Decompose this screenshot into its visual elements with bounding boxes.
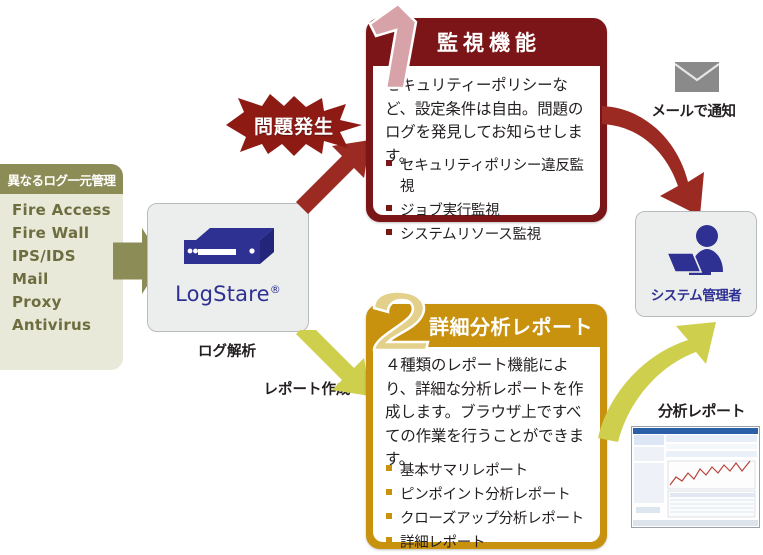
list-item: Antivirus <box>0 313 123 336</box>
system-administrator-label: システム管理者 <box>636 284 756 304</box>
analysis-report-thumbnail <box>631 426 760 528</box>
list-item: 基本サマリレポート <box>385 459 597 480</box>
mail-notification-label: メールで通知 <box>624 100 763 121</box>
problem-occurrence-burst: 問題発生 <box>226 94 362 156</box>
product-name-text: LogStare <box>175 282 270 306</box>
log-sources-panel: 異なるログ一元管理 Fire Access Fire Wall IPS/IDS … <box>0 164 123 370</box>
list-item: システムリソース監視 <box>385 223 597 244</box>
list-item: ジョブ実行監視 <box>385 199 597 220</box>
list-item: ピンポイント分析レポート <box>385 483 597 504</box>
registered-trademark-mark: ® <box>270 283 281 296</box>
list-item: Fire Wall <box>0 221 123 244</box>
log-sources-list: Fire Access Fire Wall IPS/IDS Mail Proxy… <box>0 198 123 336</box>
analysis-report-label: 分析レポート <box>640 400 763 421</box>
list-item: Proxy <box>0 290 123 313</box>
logstare-panel: LogStare® <box>147 203 309 332</box>
list-item: Mail <box>0 267 123 290</box>
log-analysis-caption: ログ解析 <box>147 340 307 361</box>
system-administrator-icon <box>663 223 729 278</box>
step-number-2-badge <box>368 290 434 352</box>
list-item: クローズアップ分析レポート <box>385 507 597 528</box>
log-sources-header: 異なるログ一元管理 <box>0 164 123 194</box>
yellow-diagonal-arrow-icon <box>296 330 376 406</box>
list-item: セキュリティポリシー違反監視 <box>385 154 597 196</box>
list-item: Fire Access <box>0 198 123 221</box>
diagram-canvas: 異なるログ一元管理 Fire Access Fire Wall IPS/IDS … <box>0 0 763 553</box>
monitoring-feature-list: セキュリティポリシー違反監視 ジョブ実行監視 システムリソース監視 <box>385 154 597 247</box>
burst-label: 問題発生 <box>226 94 362 156</box>
report-feature-list: 基本サマリレポート ピンポイント分析レポート クローズアップ分析レポート 詳細レ… <box>385 459 597 555</box>
list-item: IPS/IDS <box>0 244 123 267</box>
report-card-body: ４種類のレポート機能により、詳細な分析レポートを作成します。ブラウザ上ですべての… <box>373 347 600 542</box>
server-appliance-icon <box>182 226 274 268</box>
system-administrator-panel: システム管理者 <box>635 211 757 317</box>
mail-envelope-icon <box>675 62 719 92</box>
report-description: ４種類のレポート機能により、詳細な分析レポートを作成します。ブラウザ上ですべての… <box>385 354 593 472</box>
report-card-title: 詳細分析レポート <box>429 311 601 340</box>
product-name: LogStare® <box>148 282 308 306</box>
step-number-1-badge <box>368 2 434 90</box>
list-item: 詳細レポート <box>385 531 597 552</box>
